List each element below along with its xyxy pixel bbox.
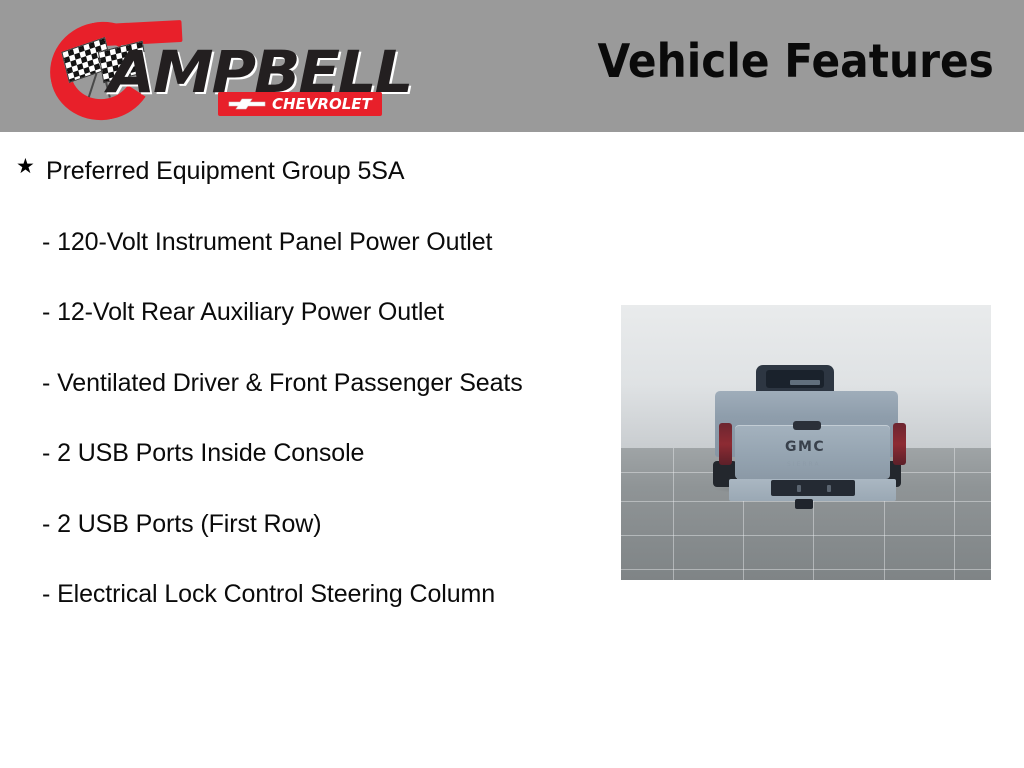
header-band: AMPBELL CHEVROLET Vehicle Features [0,0,1024,132]
feature-item-label: - 2 USB Ports Inside Console [42,436,600,471]
feature-item: - 2 USB Ports (First Row) [0,507,600,542]
trailer-hitch [795,499,813,509]
rear-window [766,370,824,388]
park-sensor [797,485,801,492]
feature-item: - 120-Volt Instrument Panel Power Outlet [0,225,600,260]
chevrolet-bowtie-icon [228,97,266,111]
feature-item: - 12-Volt Rear Auxiliary Power Outlet [0,295,600,330]
third-brake-light [790,380,820,385]
dealer-logo: AMPBELL CHEVROLET [42,16,382,122]
chevrolet-wordmark: CHEVROLET [272,95,372,113]
bumper-center-panel [771,480,855,496]
feature-item-label: - Ventilated Driver & Front Passenger Se… [42,366,600,401]
park-sensor [827,485,831,492]
gmc-sierra-truck: GMC SIERRA [709,365,904,510]
feature-item-label: - Electrical Lock Control Steering Colum… [42,577,600,612]
chevrolet-banner: CHEVROLET [218,92,382,116]
features-heading-row: ★ Preferred Equipment Group 5SA [0,154,600,189]
feature-item: - Ventilated Driver & Front Passenger Se… [0,366,600,401]
star-bullet-icon: ★ [16,156,35,177]
tail-light-right [893,423,906,465]
feature-item: - Electrical Lock Control Steering Colum… [0,577,600,612]
tailgate-handle [793,421,821,430]
tail-light-left [719,423,732,465]
feature-item-label: - 120-Volt Instrument Panel Power Outlet [42,225,600,260]
model-stamp: SIERRA [787,461,821,468]
gmc-badge: GMC [785,439,825,455]
feature-item-label: - 2 USB Ports (First Row) [42,507,600,542]
page-title: Vehicle Features [598,34,994,88]
rear-bumper [729,479,896,501]
vehicle-photo: GMC SIERRA [621,305,991,580]
features-list: ★ Preferred Equipment Group 5SA - 120-Vo… [0,132,600,612]
feature-item: - 2 USB Ports Inside Console [0,436,600,471]
features-heading: Preferred Equipment Group 5SA [18,154,600,189]
feature-item-label: - 12-Volt Rear Auxiliary Power Outlet [42,295,600,330]
truck-bed: GMC SIERRA [715,391,898,457]
